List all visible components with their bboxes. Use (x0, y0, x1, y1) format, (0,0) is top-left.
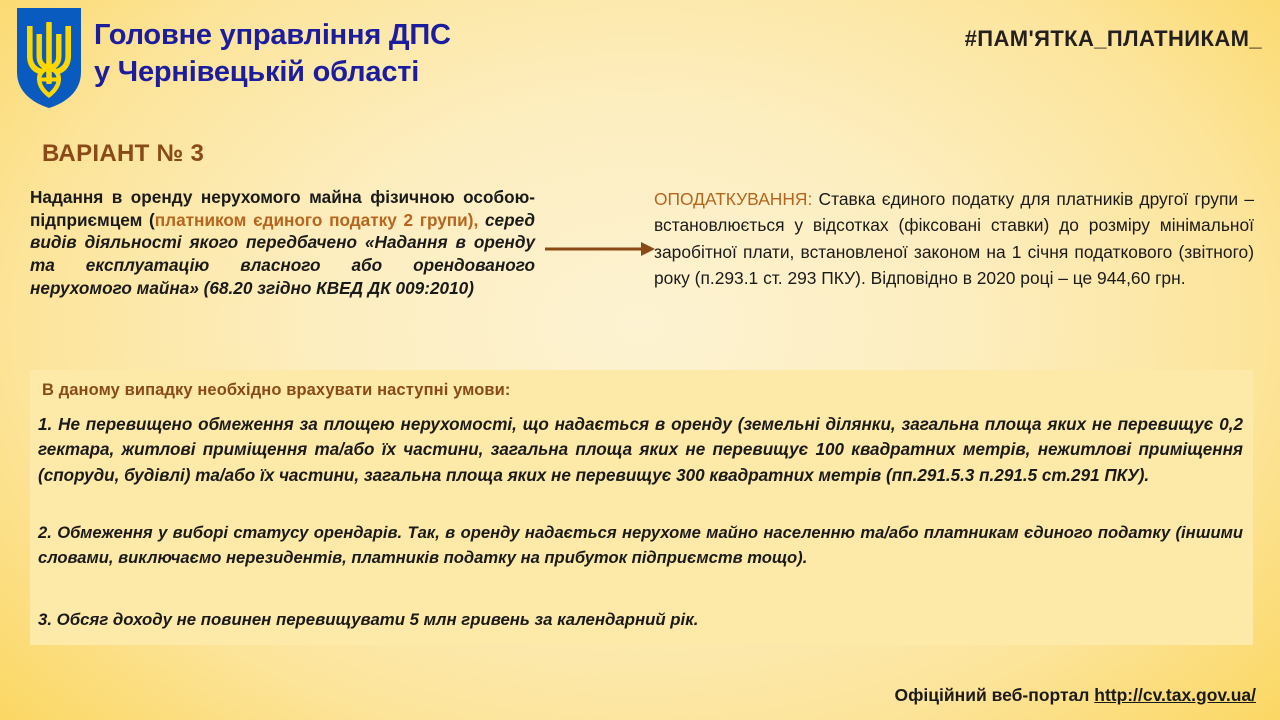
ukraine-coat-of-arms-icon (13, 6, 85, 110)
case-description-highlight: платником єдиного податку 2 групи), (155, 210, 478, 230)
taxation-heading: ОПОДАТКУВАННЯ: (654, 189, 812, 209)
taxation-block: ОПОДАТКУВАННЯ: Ставка єдиного податку дл… (654, 186, 1254, 292)
header-band: Головне управління ДПС у Чернівецькій об… (0, 0, 1280, 118)
right-arrow-icon (545, 238, 655, 260)
condition-item-3: 3. Обсяг доходу не повинен перевищувати … (38, 608, 1243, 632)
condition-item-2: 2. Обмеження у виборі статусу орендарів.… (38, 520, 1243, 570)
footer: Офіційний веб-портал http://cv.tax.gov.u… (894, 685, 1256, 706)
condition-item-1: 1. Не перевищено обмеження за площею нер… (38, 412, 1243, 488)
infographic-poster: Головне управління ДПС у Чернівецькій об… (0, 0, 1280, 720)
variant-label: ВАРІАНТ № 3 (42, 140, 204, 168)
footer-label: Офіційний веб-портал (894, 685, 1094, 705)
page-title: Головне управління ДПС у Чернівецькій об… (94, 17, 451, 91)
portal-link[interactable]: http://cv.tax.gov.ua/ (1094, 685, 1256, 705)
conditions-panel: В даному випадку необхідно врахувати нас… (30, 370, 1253, 645)
case-description-block: Надання в оренду нерухомого майна фізичн… (30, 186, 535, 300)
hashtag-label: #ПАМ'ЯТКА_ПЛАТНИКАМ_ (965, 26, 1262, 52)
conditions-panel-title: В даному випадку необхідно врахувати нас… (42, 381, 510, 400)
